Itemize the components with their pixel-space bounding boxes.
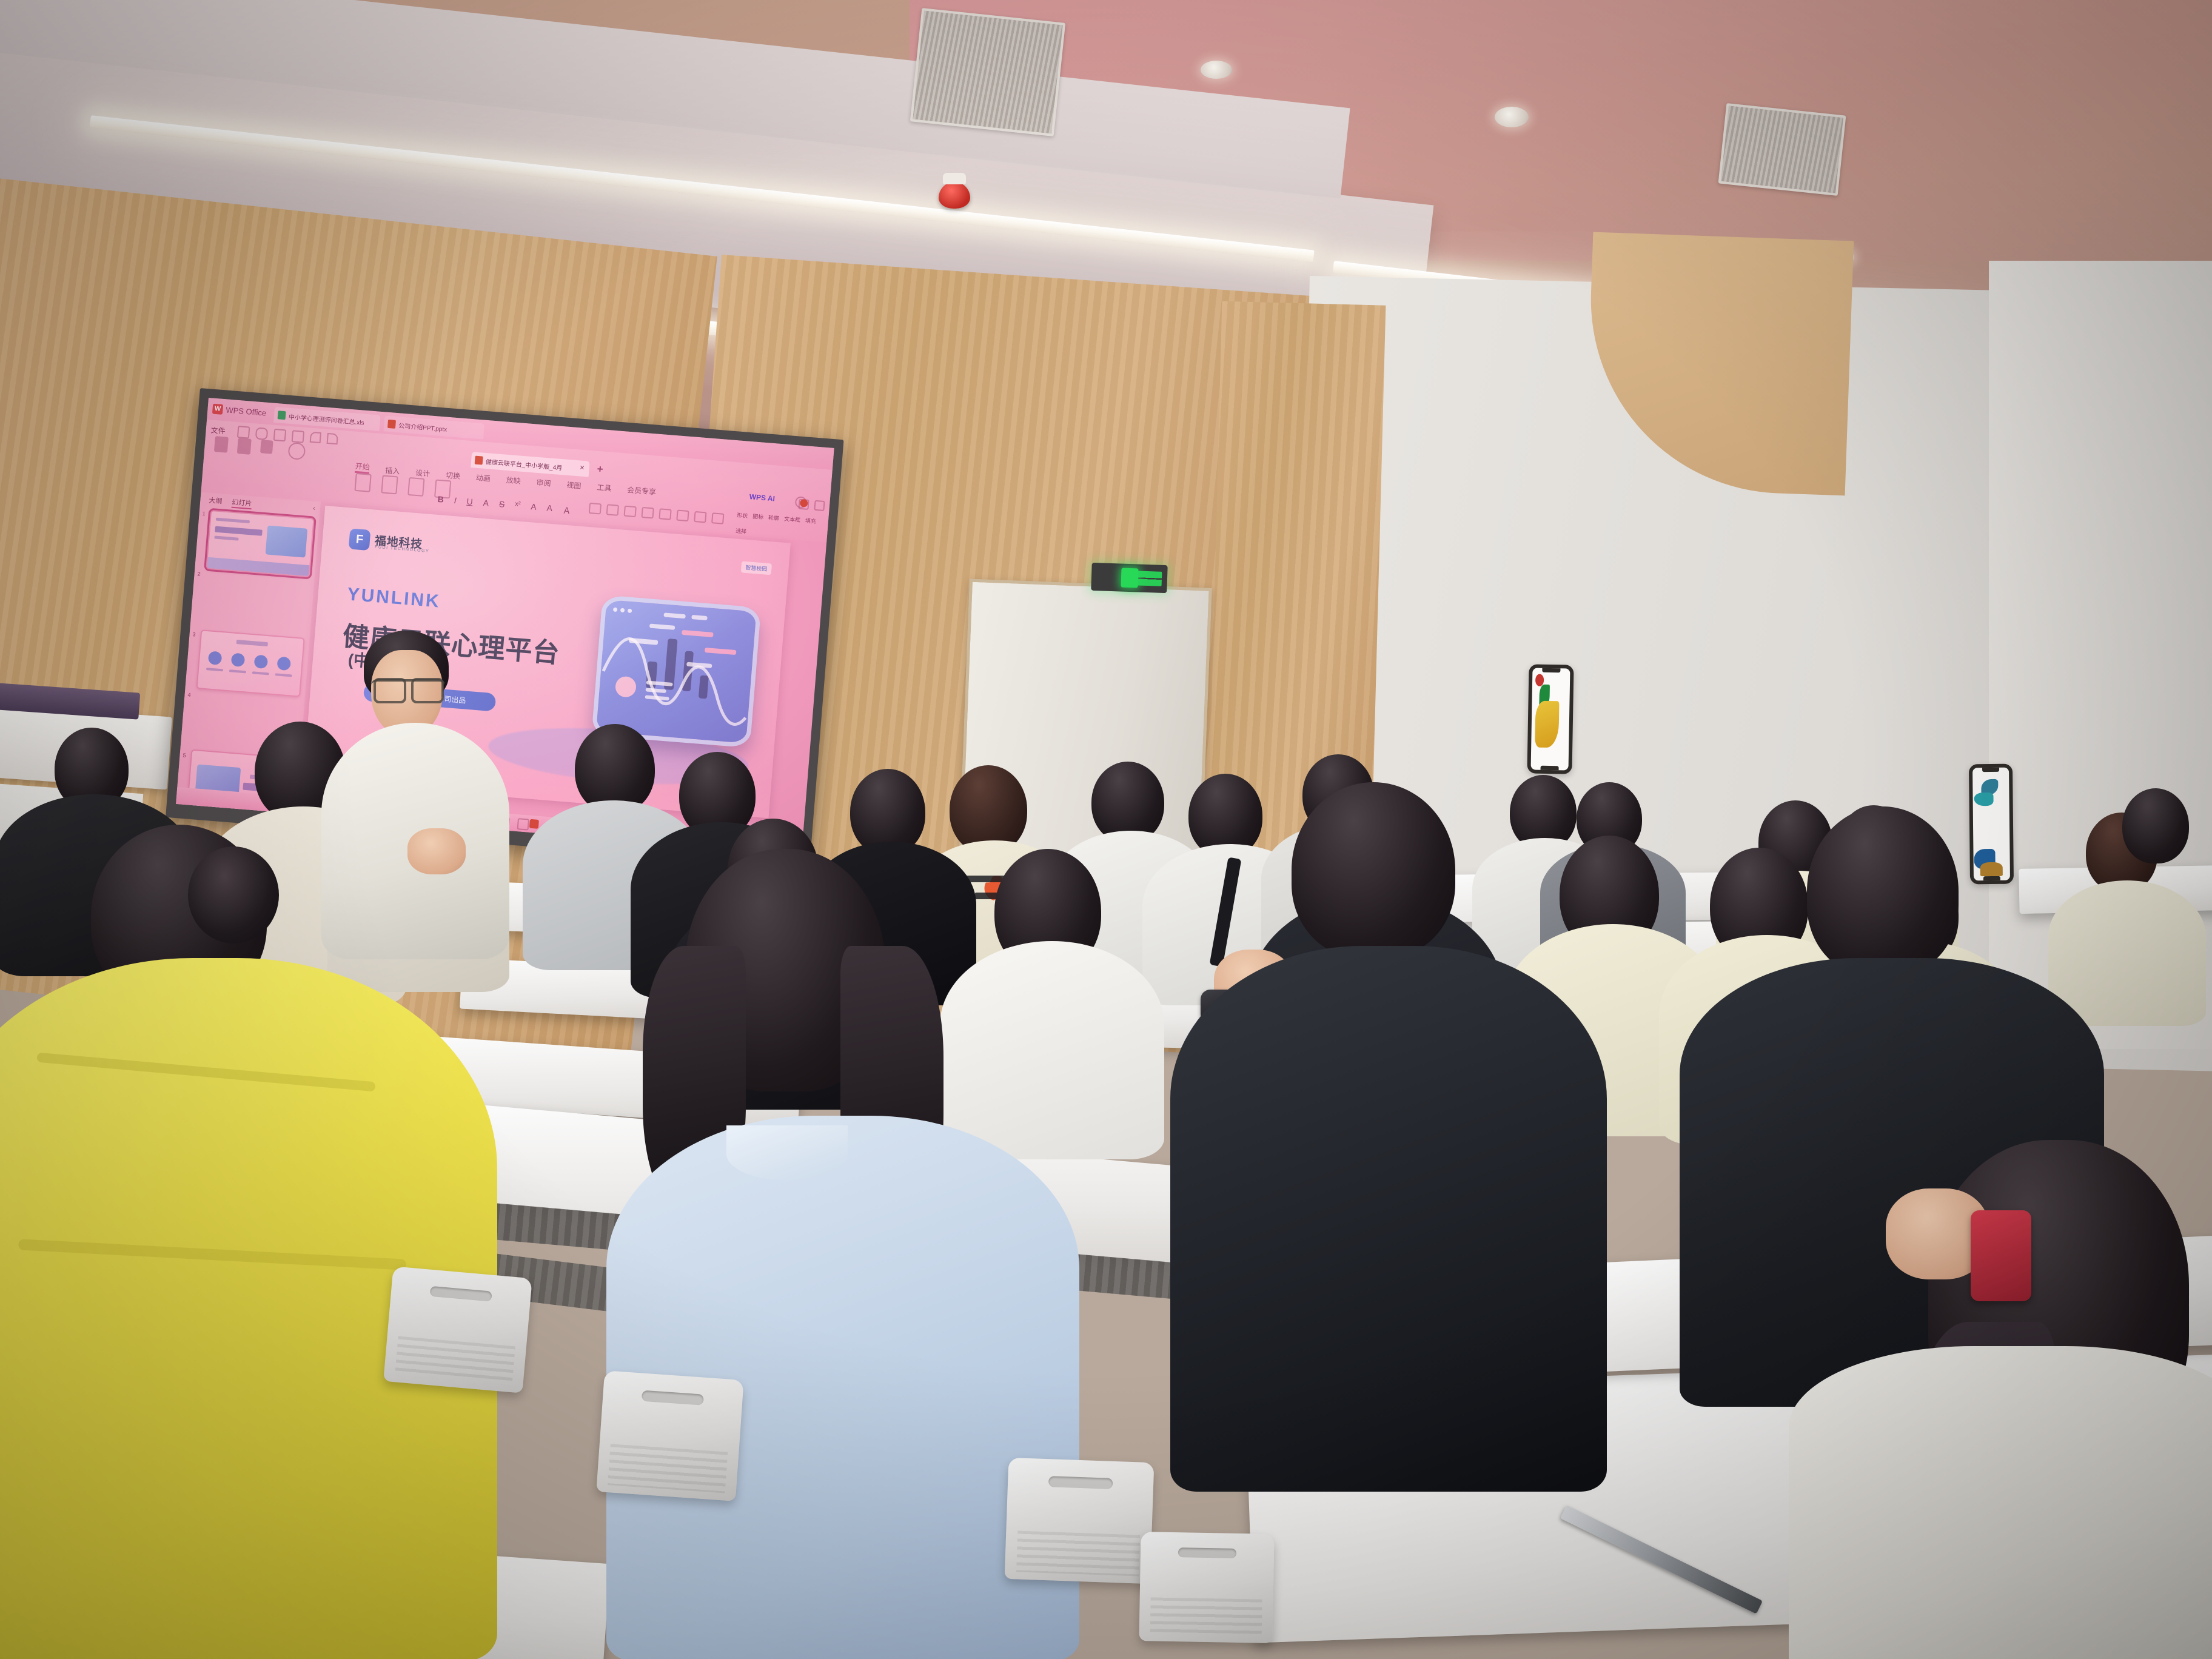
cut-icon[interactable] xyxy=(260,440,273,454)
presenter-glasses-lens-l xyxy=(374,678,406,703)
outline-button[interactable]: 填充 xyxy=(805,517,816,528)
window-controls[interactable] xyxy=(798,499,825,511)
spreadsheet-icon xyxy=(278,411,286,420)
strikethrough-icon[interactable]: S xyxy=(498,499,505,515)
bullets-icon[interactable] xyxy=(589,503,602,515)
bold-icon[interactable]: B xyxy=(437,494,444,511)
exit-sign-text xyxy=(1128,571,1162,586)
wall-art-bird xyxy=(1527,664,1574,774)
recessed-downlight-1 xyxy=(1495,107,1529,127)
wall-art-landscape xyxy=(1969,764,2014,885)
paste-icon[interactable] xyxy=(237,438,252,455)
attendee-black-polo xyxy=(1170,946,1607,1492)
slide-number-4: 4 xyxy=(187,692,191,698)
shapes-button[interactable]: 形状 xyxy=(736,511,748,523)
presentation-icon-active xyxy=(475,456,483,465)
presentation-icon xyxy=(387,420,396,429)
line-spacing-icon[interactable] xyxy=(711,512,724,525)
attendee-farright-phone xyxy=(1971,1210,2031,1301)
presenter-hands xyxy=(407,828,466,874)
pane-collapse-icon[interactable]: ‹ xyxy=(313,504,316,512)
layout-icon[interactable] xyxy=(381,475,398,494)
ribbon-tab-slideshow[interactable]: 放映 xyxy=(506,475,521,486)
indent-decrease-icon[interactable] xyxy=(624,506,637,518)
ribbon-group-clipboard[interactable] xyxy=(212,436,336,492)
print-icon[interactable] xyxy=(273,429,287,442)
slideshow-icon[interactable] xyxy=(529,819,539,829)
fill-button[interactable]: 轮廓 xyxy=(768,514,779,525)
slide-number-3: 3 xyxy=(192,631,196,637)
attendee-black-head xyxy=(1292,782,1455,958)
wps-menu-button[interactable]: 文件 xyxy=(210,424,226,436)
presenter-glasses-lens-r xyxy=(411,678,444,703)
recessed-downlight-2 xyxy=(1201,61,1232,79)
align-left-icon[interactable] xyxy=(659,508,671,520)
attendee-farright-top xyxy=(1789,1346,2212,1659)
highlight-icon[interactable]: A xyxy=(530,501,537,518)
ribbon-tab-transition[interactable]: 切换 xyxy=(445,470,460,481)
preview-icon[interactable] xyxy=(292,430,305,443)
maximize-icon[interactable] xyxy=(814,500,825,511)
section-icon[interactable] xyxy=(407,477,424,497)
fire-alarm-icon xyxy=(939,182,970,209)
classroom-scene: W WPS Office 中小学心理测评问卷汇总.xls 公司介绍PPT.ppt… xyxy=(0,0,2212,1659)
align-right-icon[interactable] xyxy=(694,511,706,523)
undo-icon[interactable] xyxy=(310,432,321,443)
attendee-head-c10 xyxy=(2122,788,2189,863)
pane-tab-slides[interactable]: 幻灯片 xyxy=(232,497,252,510)
new-slide-icon[interactable] xyxy=(354,473,371,492)
pane-tabs[interactable]: 大纲 幻灯片 xyxy=(209,495,252,510)
attendee-yellow-hair-bun xyxy=(188,846,279,943)
wps-new-tab-button[interactable]: + xyxy=(597,463,604,476)
superscript-icon[interactable]: x² xyxy=(514,500,521,517)
chair-center-1 xyxy=(1005,1458,1155,1584)
font-color-icon[interactable]: A xyxy=(482,498,489,514)
chair-left-1 xyxy=(383,1266,532,1393)
textbox-button[interactable]: 文本框 xyxy=(783,515,800,527)
format-painter-icon[interactable] xyxy=(214,436,229,453)
chair-center-2 xyxy=(1139,1532,1274,1643)
attendee-body-m3 xyxy=(940,941,1164,1159)
redo-icon[interactable] xyxy=(327,433,338,444)
pane-tab-outline[interactable]: 大纲 xyxy=(209,495,223,508)
slide-number-1: 1 xyxy=(202,511,206,517)
numbering-icon[interactable] xyxy=(606,504,619,516)
slide-thumbnail-1[interactable] xyxy=(206,510,314,577)
emergency-exit-sign xyxy=(1091,563,1168,593)
italic-icon[interactable]: I xyxy=(453,495,457,511)
align-center-icon[interactable] xyxy=(676,510,689,522)
icons-button[interactable]: 图标 xyxy=(752,512,763,524)
slide-number-5: 5 xyxy=(183,752,186,759)
attendee-blue-collar xyxy=(726,1125,848,1180)
attendee-body-c9 xyxy=(2048,880,2206,1026)
attendee-right-head xyxy=(1807,806,1959,976)
reading-view-icon[interactable] xyxy=(517,818,529,830)
ribbon-tab-view[interactable]: 视图 xyxy=(566,480,581,491)
close-icon[interactable]: ✕ xyxy=(579,465,586,472)
slide-eyebrow: YUNLINK xyxy=(346,584,441,612)
chair-left-2 xyxy=(596,1370,743,1501)
ribbon-tab-design[interactable]: 设计 xyxy=(415,468,431,479)
underline-icon[interactable]: U xyxy=(466,497,473,513)
slide-number-2: 2 xyxy=(197,571,201,577)
select-button[interactable]: 选择 xyxy=(735,526,746,538)
slide-badge: 智慧校园 xyxy=(741,561,772,575)
hvac-vent-right xyxy=(1718,103,1846,196)
save-icon[interactable] xyxy=(237,426,250,439)
indent-increase-icon[interactable] xyxy=(641,507,654,519)
wps-tab-2-label: 健康云联平台_中小学版_4月 xyxy=(485,457,565,472)
char-spacing-icon[interactable]: Ａ xyxy=(561,504,571,520)
slide-thumbnail-2[interactable] xyxy=(196,629,304,697)
clear-format-icon[interactable]: A xyxy=(546,503,552,519)
ribbon-tab-review[interactable]: 审阅 xyxy=(536,477,551,489)
cloud-icon[interactable] xyxy=(255,427,269,440)
hvac-vent-left xyxy=(910,8,1065,136)
ribbon-tab-animation[interactable]: 动画 xyxy=(475,472,491,484)
present-from-page-icon[interactable] xyxy=(287,442,306,460)
ribbon-tab-insert[interactable]: 插入 xyxy=(385,465,400,477)
ribbon-tab-tools[interactable]: 工具 xyxy=(597,482,612,494)
ribbon-tab-start[interactable]: 开始 xyxy=(355,461,370,474)
slide-brand-logo-icon: F xyxy=(349,528,371,551)
wps-logo-icon: W xyxy=(212,404,223,415)
